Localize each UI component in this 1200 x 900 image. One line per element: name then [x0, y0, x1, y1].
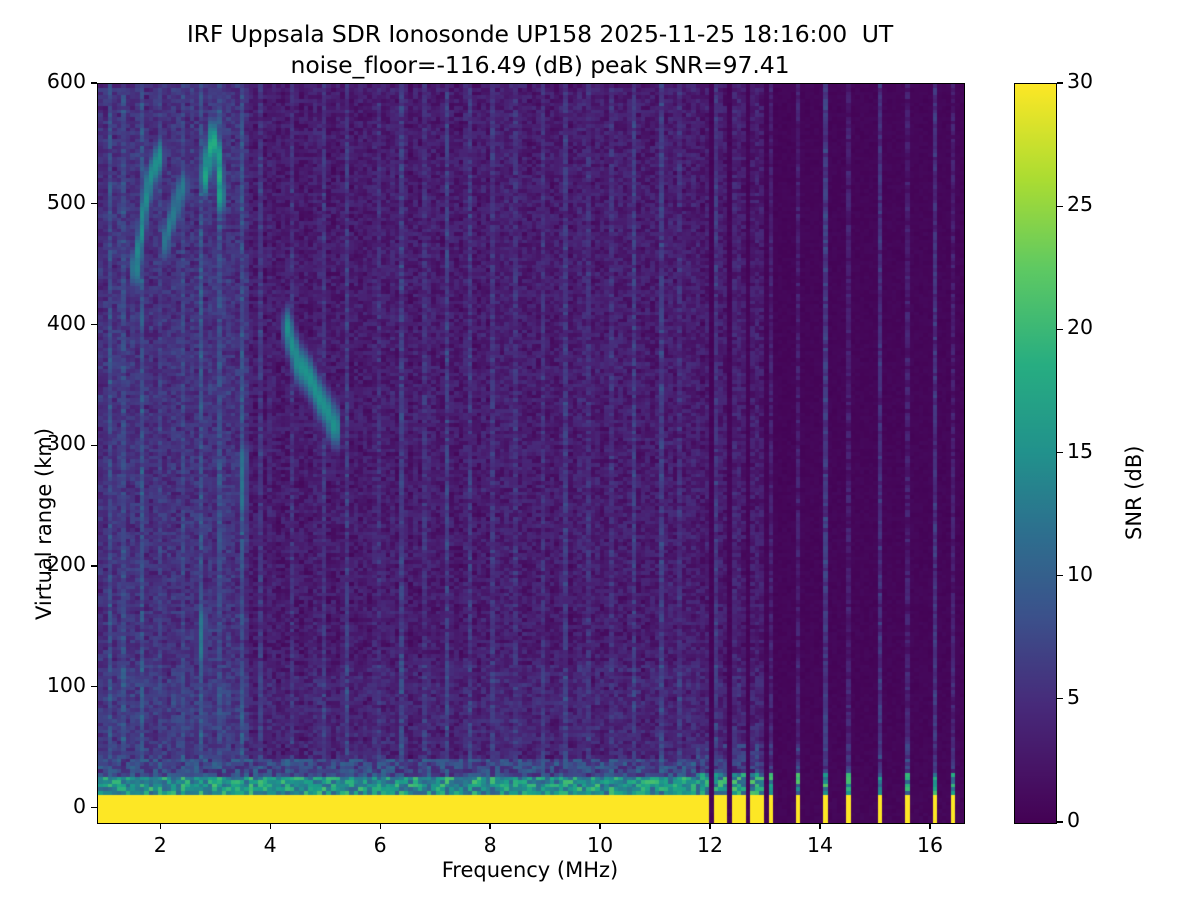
colorbar-tick-label-10: 10 — [1067, 562, 1093, 586]
x-tick-mark — [489, 823, 490, 829]
ionogram-heatmap — [98, 84, 964, 823]
colorbar-tick-mark — [1057, 452, 1063, 453]
x-tick-label-2: 2 — [130, 833, 190, 857]
x-tick-label-4: 4 — [240, 833, 300, 857]
y-tick-mark — [91, 203, 97, 204]
colorbar-tick-mark — [1057, 575, 1063, 576]
colorbar-tick-label-25: 25 — [1067, 192, 1093, 216]
colorbar-tick-mark — [1057, 698, 1063, 699]
y-tick-mark — [91, 565, 97, 566]
x-tick-label-16: 16 — [900, 833, 960, 857]
x-tick-label-14: 14 — [790, 833, 850, 857]
colorbar-tick-mark — [1057, 82, 1063, 83]
x-tick-label-12: 12 — [680, 833, 740, 857]
x-tick-mark — [599, 823, 600, 829]
colorbar-tick-label-20: 20 — [1067, 315, 1093, 339]
colorbar-label: SNR (dB) — [1122, 446, 1146, 540]
x-tick-label-8: 8 — [460, 833, 520, 857]
colorbar-tick-label-15: 15 — [1067, 439, 1093, 463]
x-tick-mark — [819, 823, 820, 829]
colorbar-tick-label-0: 0 — [1067, 808, 1080, 832]
figure-title-line-1: IRF Uppsala SDR Ionosonde UP158 2025-11-… — [0, 20, 1080, 48]
figure-title-line-2: noise_floor=-116.49 (dB) peak SNR=97.41 — [0, 51, 1080, 79]
x-axis-label: Frequency (MHz) — [97, 858, 963, 882]
x-tick-label-10: 10 — [570, 833, 630, 857]
y-tick-mark — [91, 445, 97, 446]
x-tick-mark — [160, 823, 161, 829]
colorbar-tick-label-30: 30 — [1067, 69, 1093, 93]
x-tick-mark — [270, 823, 271, 829]
y-tick-label-400: 400 — [0, 311, 86, 335]
x-tick-mark — [709, 823, 710, 829]
y-tick-label-600: 600 — [0, 69, 86, 93]
y-tick-mark — [91, 82, 97, 83]
x-tick-label-6: 6 — [350, 833, 410, 857]
ionogram-plot-area — [97, 83, 965, 824]
y-tick-label-0: 0 — [0, 794, 86, 818]
y-axis-label: Virtual range (km) — [32, 428, 56, 620]
colorbar-tick-label-5: 5 — [1067, 685, 1080, 709]
y-tick-mark — [91, 324, 97, 325]
y-tick-label-100: 100 — [0, 673, 86, 697]
y-tick-label-500: 500 — [0, 190, 86, 214]
x-tick-mark — [929, 823, 930, 829]
x-tick-mark — [380, 823, 381, 829]
y-tick-mark — [91, 807, 97, 808]
ionogram-figure: IRF Uppsala SDR Ionosonde UP158 2025-11-… — [0, 0, 1200, 900]
y-tick-mark — [91, 686, 97, 687]
colorbar-tick-mark — [1057, 206, 1063, 207]
colorbar-tick-mark — [1057, 821, 1063, 822]
colorbar — [1014, 83, 1057, 824]
colorbar-tick-mark — [1057, 329, 1063, 330]
